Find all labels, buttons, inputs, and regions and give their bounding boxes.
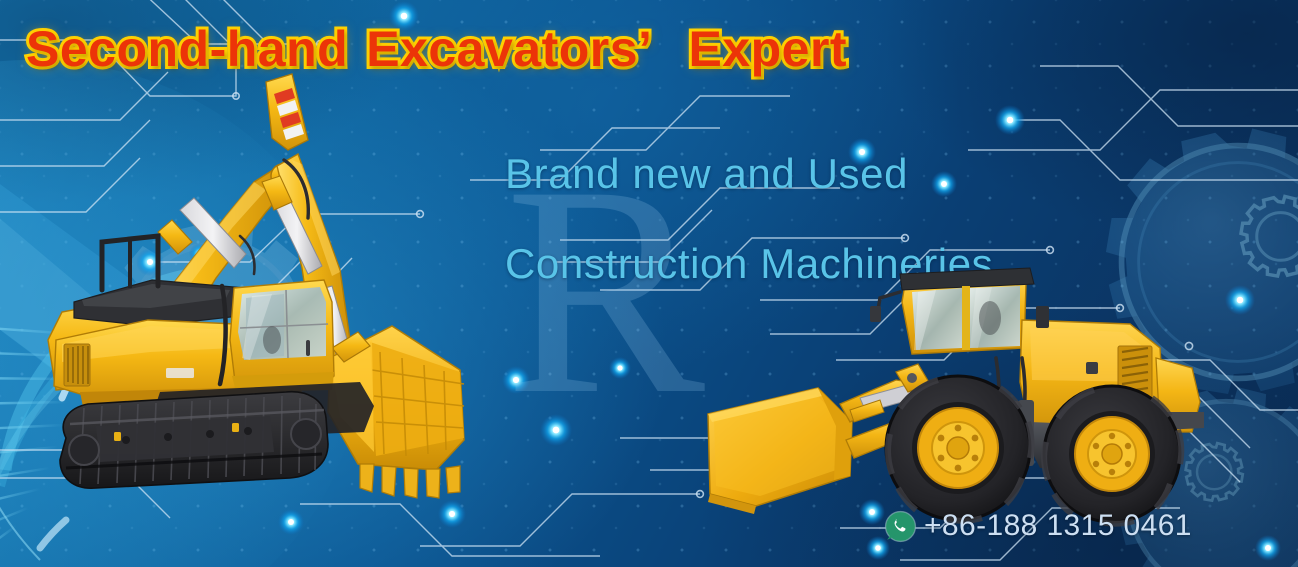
page-title: Second-handExcavators’Expert [26,20,847,78]
rear-wheel [1044,386,1181,524]
wheel-loader-image [700,262,1220,542]
contact-phone-block[interactable]: +86-188 1315 0461 [884,509,1192,543]
excavator-image [40,40,520,510]
headline-part-2: Excavators’ [366,21,652,77]
headline-part-1: Second-hand [26,21,348,77]
headline-part-3: Expert [688,21,847,77]
subtitle-line-1: Brand new and Used [505,150,908,198]
phone-number-text[interactable]: +86-188 1315 0461 [924,509,1192,543]
front-wheel [886,376,1031,521]
promo-banner: R Brand new and Used Construction Machin… [0,0,1298,567]
whatsapp-icon[interactable] [884,510,917,543]
